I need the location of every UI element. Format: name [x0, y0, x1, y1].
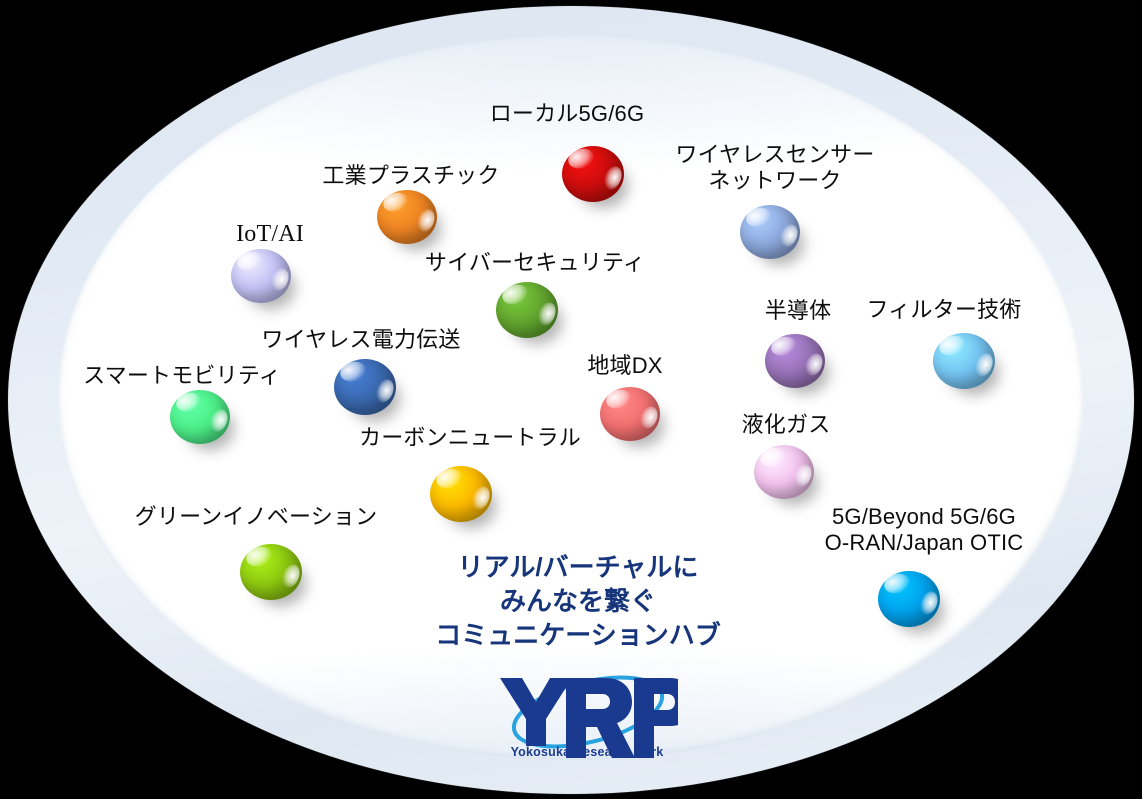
sphere-body [600, 387, 660, 441]
node-label-5g-beyond-oran: 5G/Beyond 5G/6G O-RAN/Japan OTIC [825, 504, 1024, 556]
node-label-liquefied-gas: 液化ガス [742, 412, 831, 438]
sphere-body [430, 466, 492, 522]
sphere-body [765, 334, 825, 388]
node-label-industrial-plastic: 工業プラスチック [322, 163, 499, 189]
node-label-cyber-security: サイバーセキュリティ [425, 250, 645, 276]
node-sphere-5g-beyond-oran[interactable] [878, 571, 940, 627]
node-label-iot-ai: IoT/AI [236, 220, 304, 248]
node-sphere-filter-technology[interactable] [933, 333, 995, 389]
node-sphere-local-5g-6g[interactable] [562, 146, 624, 202]
node-sphere-regional-dx[interactable] [600, 387, 660, 441]
node-sphere-liquefied-gas[interactable] [754, 445, 814, 499]
node-label-wireless-sensor-network: ワイヤレスセンサー ネットワーク [675, 142, 874, 194]
sphere-body [740, 205, 800, 259]
sphere-body [562, 146, 624, 202]
node-label-regional-dx: 地域DX [587, 353, 662, 379]
node-sphere-wireless-sensor-network[interactable] [740, 205, 800, 259]
sphere-body [878, 571, 940, 627]
node-label-filter-technology: フィルター技術 [867, 297, 1022, 323]
sphere-body [334, 359, 396, 415]
sphere-body [240, 544, 302, 600]
yrp-tagline: Yokosuka Research Park [511, 745, 664, 759]
diagram-canvas: ローカル5G/6G工業プラスチックワイヤレスセンサー ネットワークIoT/AIサ… [0, 0, 1142, 799]
sphere-body [754, 445, 814, 499]
node-sphere-green-innovation[interactable] [240, 544, 302, 600]
node-sphere-smart-mobility[interactable] [170, 390, 230, 444]
node-sphere-semiconductor[interactable] [765, 334, 825, 388]
node-label-wireless-power: ワイヤレス電力伝送 [261, 327, 460, 353]
node-sphere-iot-ai[interactable] [231, 249, 291, 303]
node-sphere-industrial-plastic[interactable] [377, 190, 437, 244]
yrp-logo: Yokosuka Research Park [492, 666, 678, 762]
communication-hub-caption: リアル/バーチャルに みんなを繋ぐ コミュニケーションハブ [435, 551, 720, 652]
node-label-carbon-neutral: カーボンニュートラル [359, 425, 581, 451]
node-label-smart-mobility: スマートモビリティ [83, 363, 281, 389]
node-label-local-5g-6g: ローカル5G/6G [490, 101, 645, 127]
sphere-body [377, 190, 437, 244]
sphere-body [933, 333, 995, 389]
node-label-semiconductor: 半導体 [765, 298, 832, 324]
sphere-body [170, 390, 230, 444]
sphere-body [231, 249, 291, 303]
node-sphere-wireless-power[interactable] [334, 359, 396, 415]
sphere-body [496, 282, 558, 338]
node-label-green-innovation: グリーンイノベーション [135, 504, 378, 530]
node-sphere-carbon-neutral[interactable] [430, 466, 492, 522]
node-sphere-cyber-security[interactable] [496, 282, 558, 338]
